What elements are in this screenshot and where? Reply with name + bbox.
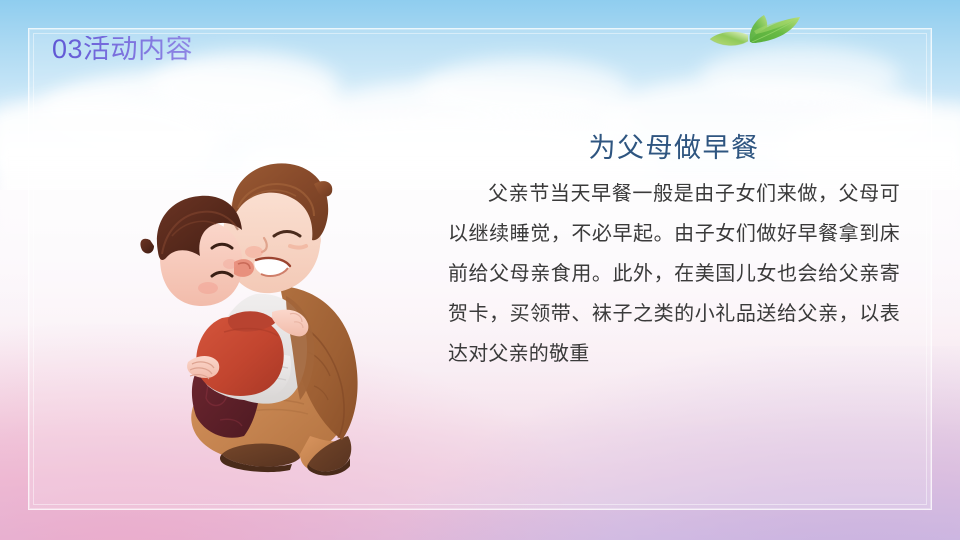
father-child-illustration-svg bbox=[104, 136, 394, 496]
content-body-text: 父亲节当天早餐一般是由子女们来做，父母可以继续睡觉，不必早起。由子女们做好早餐拿… bbox=[448, 174, 900, 374]
slide-root: 03活动内容 bbox=[0, 0, 960, 540]
illustration-father-and-child bbox=[104, 136, 394, 496]
content-heading: 为父母做早餐 bbox=[448, 132, 900, 164]
section-title: 03活动内容 bbox=[52, 36, 193, 63]
leaf-icon bbox=[702, 8, 810, 52]
leaves-decoration bbox=[702, 8, 810, 52]
content-block: 为父母做早餐 父亲节当天早餐一般是由子女们来做，父母可以继续睡觉，不必早起。由子… bbox=[448, 132, 900, 374]
